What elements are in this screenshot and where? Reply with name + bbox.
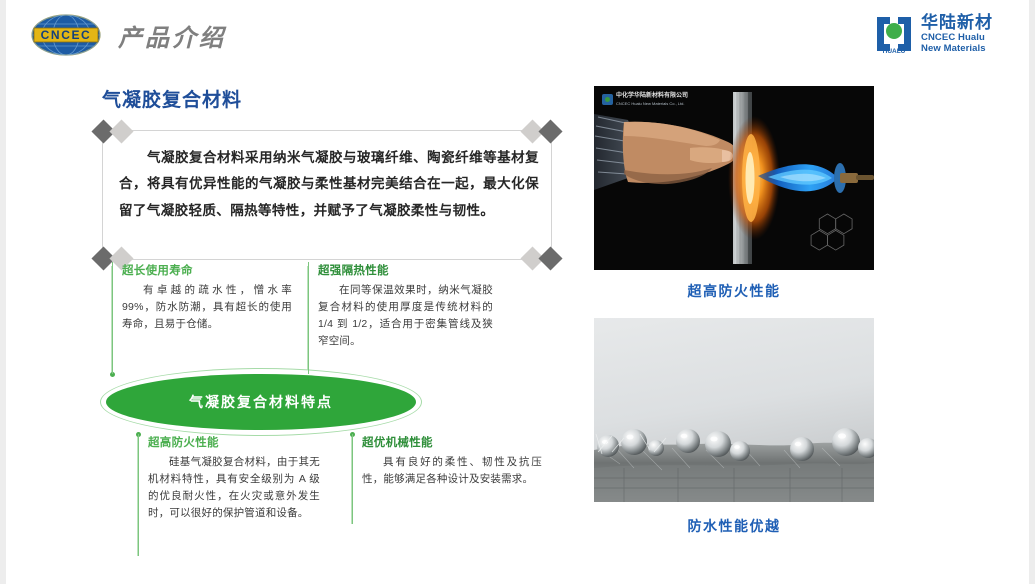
photo-caption-water-repellency: 防水性能优越 — [594, 516, 874, 536]
watermark-company-en: CNCEC Hualu New Materials Co., Ltd. — [616, 101, 688, 106]
hualu-mark-icon: HUALU — [873, 14, 915, 54]
watermark-company-cn: 中化学华陆新材料有限公司 — [616, 93, 688, 101]
feature-title: 超强隔热性能 — [318, 262, 493, 278]
slide-header: CNCEC 产品介绍 HUALU 华陆新材 CNCEC Hualu New Ma… — [6, 0, 1029, 62]
cncec-logo-icon: CNCEC — [28, 13, 104, 57]
page-title: 产品介绍 — [118, 18, 226, 53]
brand-name-cn: 华陆新材 — [921, 14, 993, 32]
brand-name-en-line2: New Materials — [921, 43, 993, 54]
feature-body: 有卓越的疏水性，憎水率 99%，防水防潮，具有超长的使用寿命，且易于仓储。 — [122, 282, 292, 333]
diamond-ornament-top-left-light — [109, 119, 133, 143]
feature-block-mechanical-performance: 超优机械性能 具有良好的柔性、韧性及抗压性，能够满足各种设计及安装需求。 — [352, 434, 542, 524]
feature-title: 超高防火性能 — [148, 434, 320, 450]
svg-text:HUALU: HUALU — [883, 48, 906, 54]
hualu-brand-logo: HUALU 华陆新材 CNCEC Hualu New Materials — [873, 12, 1013, 56]
intro-quote-box: 气凝胶复合材料采用纳米气凝胶与玻璃纤维、陶瓷纤维等基材复合，将具有优异性能的气凝… — [102, 130, 552, 260]
water-droplet-illustration — [594, 318, 874, 502]
intro-quote-text: 气凝胶复合材料采用纳米气凝胶与玻璃纤维、陶瓷纤维等基材复合，将具有优异性能的气凝… — [119, 145, 539, 224]
fire-test-illustration — [594, 86, 874, 270]
feature-body: 在同等保温效果时，纳米气凝胶复合材料的使用厚度是传统材料的 1/4 到 1/2，… — [318, 282, 493, 350]
photo-watermark: 中化学华陆新材料有限公司 CNCEC Hualu New Materials C… — [602, 93, 688, 106]
feature-title: 超长使用寿命 — [122, 262, 292, 278]
photo-water-repellency — [594, 318, 874, 502]
photo-caption-fire-resistance: 超高防火性能 — [594, 281, 874, 301]
photo-fire-resistance-test: 中化学华陆新材料有限公司 CNCEC Hualu New Materials C… — [594, 86, 874, 270]
features-diagram: 气凝胶复合材料特点 超长使用寿命 有卓越的疏水性，憎水率 99%，防水防潮，具有… — [102, 262, 562, 562]
feature-block-long-lifespan: 超长使用寿命 有卓越的疏水性，憎水率 99%，防水防潮，具有超长的使用寿命，且易… — [112, 262, 292, 374]
hualu-brand-text: 华陆新材 CNCEC Hualu New Materials — [921, 14, 993, 54]
diagram-center-label: 气凝胶复合材料特点 — [189, 392, 333, 412]
feature-block-thermal-insulation: 超强隔热性能 在同等保温效果时，纳米气凝胶复合材料的使用厚度是传统材料的 1/4… — [308, 262, 493, 374]
watermark-logo-icon — [602, 94, 613, 105]
feature-title: 超优机械性能 — [362, 434, 542, 450]
svg-text:CNCEC: CNCEC — [41, 28, 92, 42]
feature-block-fire-resistance: 超高防火性能 硅基气凝胶复合材料，由于其无机材料特性，具有安全级别为 A 级的优… — [138, 434, 320, 556]
section-heading: 气凝胶复合材料 — [102, 85, 242, 112]
slide-canvas: CNCEC 产品介绍 HUALU 华陆新材 CNCEC Hualu New Ma… — [0, 0, 1035, 584]
diagram-center-ellipse: 气凝胶复合材料特点 — [106, 374, 416, 430]
diamond-ornament-top-right-dark — [538, 119, 562, 143]
feature-body: 硅基气凝胶复合材料，由于其无机材料特性，具有安全级别为 A 级的优良耐火性，在火… — [148, 454, 320, 522]
brand-name-en-line1: CNCEC Hualu — [921, 32, 993, 43]
feature-body: 具有良好的柔性、韧性及抗压性，能够满足各种设计及安装需求。 — [362, 454, 542, 488]
